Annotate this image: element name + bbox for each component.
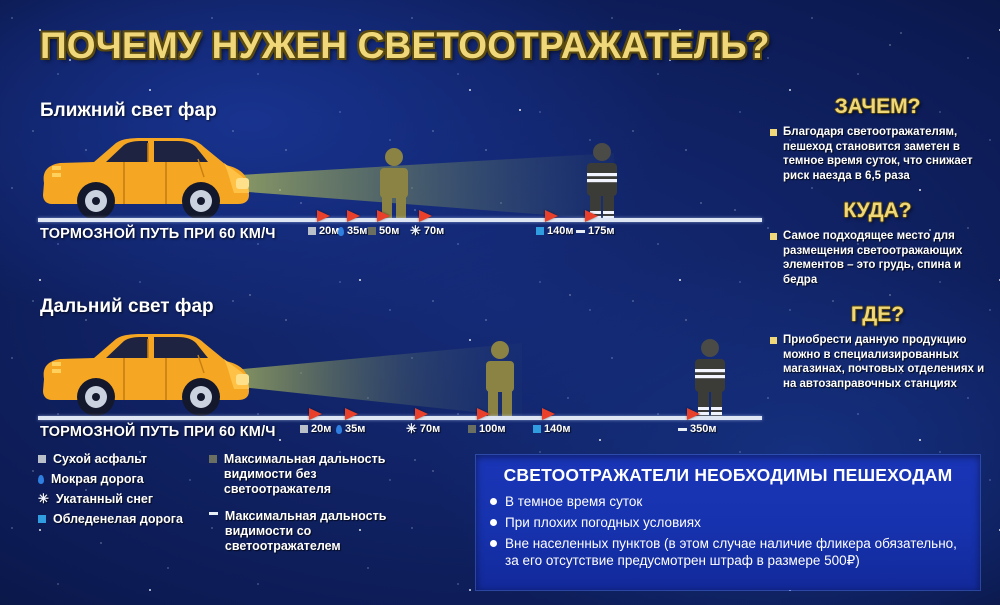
visibility-no-reflector-icon [368,227,376,235]
road-line [38,416,762,420]
legend-item: Максимальная дальность видимости без све… [209,452,391,497]
icy-road-icon [536,227,544,235]
pedestrian-with-reflectors [688,339,732,416]
distance-value: 175м [588,225,615,237]
distance-value: 350м [690,423,717,435]
headlight-beam-cone [222,143,722,220]
distance-marker-arrow [377,210,390,222]
section-item: Приобрести данную продукцию можно в спец… [770,333,985,391]
legend-item-label: Максимальная дальность видимости со свет… [225,509,391,554]
legend-item: Обледенелая дорога [38,512,183,527]
headlight-beam-cone [222,339,722,419]
rc-section-kuda: КУДА? Самое подходящее место для размеще… [770,199,985,287]
packed-snow-icon: ✳ [410,227,421,235]
car-low-beam [38,133,253,221]
brake-distance-label: ТОРМОЗНОЙ ПУТЬ ПРИ 60 КМ/Ч [40,424,276,440]
callout-list-item: В темное время суток [490,493,966,510]
scene-high-beam: Дальний свет фар [0,296,760,446]
callout-list-item: При плохих погодных условиях [490,514,966,531]
legend: Сухой асфальтМокрая дорога✳Укатанный сне… [38,452,458,566]
scene-low-beam: Ближний свет фар [0,100,760,250]
section-heading: КУДА? [770,199,985,223]
packed-snow-icon: ✳ [406,425,417,433]
distance-marker-label: 50м [368,225,399,237]
distance-value: 140м [544,423,571,435]
packed-snow-icon: ✳ [38,495,49,503]
visibility-no-reflector-icon [468,425,476,433]
rc-section-gde: ГДЕ? Приобрести данную продукцию можно в… [770,303,985,391]
wet-road-droplet-icon [338,227,344,236]
legend-surfaces: Сухой асфальтМокрая дорога✳Укатанный сне… [38,452,183,566]
distance-marker-arrow [347,210,360,222]
icy-road-icon [533,425,541,433]
distance-value: 50м [379,225,399,237]
distance-value: 70м [420,423,440,435]
distance-marker-arrow [542,408,555,420]
icy-road-icon [38,515,46,523]
distance-marker-label: 20м [300,423,331,435]
legend-item: Сухой асфальт [38,452,183,467]
distance-marker-label: 140м [536,225,574,237]
distance-value: 20м [319,225,339,237]
legend-item-label: Сухой асфальт [53,452,147,467]
callout-items: В темное время сутокПри плохих погодных … [490,493,966,569]
bullet-square-icon [770,233,777,240]
page-title: ПОЧЕМУ НУЖЕН СВЕТООТРАЖАТЕЛЬ? [40,25,770,67]
dry-asphalt-icon [308,227,316,235]
wet-road-droplet-icon [38,475,44,484]
legend-item-label: Укатанный снег [56,492,153,507]
distance-marker-label: 175м [576,225,615,237]
section-item: Благодаря светоотражателям, пешеход стан… [770,125,985,183]
bullet-square-icon [770,129,777,136]
right-column: ЗАЧЕМ? Благодаря светоотражателям, пешех… [770,95,985,407]
section-heading: ЗАЧЕМ? [770,95,985,119]
callout-item-text: Вне населенных пунктов (в этом случае на… [505,535,966,569]
distance-marker-arrow [477,408,490,420]
scene-heading: Дальний свет фар [40,296,214,318]
distance-marker-arrow [415,408,428,420]
distance-marker-arrow [345,408,358,420]
rc-section-zachem: ЗАЧЕМ? Благодаря светоотражателям, пешех… [770,95,985,183]
distance-marker-label: 35м [338,225,367,237]
scene-heading: Ближний свет фар [40,100,217,122]
distance-marker-label: 140м [533,423,571,435]
legend-item: ✳Укатанный снег [38,492,183,507]
section-heading: ГДЕ? [770,303,985,327]
distance-marker-label: 100м [468,423,506,435]
distance-value: 140м [547,225,574,237]
distance-value: 100м [479,423,506,435]
section-item: Самое подходящее место для размещения св… [770,229,985,287]
legend-item-label: Максимальная дальность видимости без све… [224,452,391,497]
distance-marker-label: 20м [308,225,339,237]
callout-item-text: В темное время суток [505,493,642,510]
visibility-with-reflector-icon [678,428,687,431]
distance-marker-label: ✳70м [410,225,444,237]
wet-road-droplet-icon [336,425,342,434]
section-text: Благодаря светоотражателям, пешеход стан… [783,125,985,183]
distance-marker-arrow [317,210,330,222]
distance-marker-label: 35м [336,423,365,435]
car-high-beam [38,329,253,417]
distance-value: 35м [347,225,367,237]
bullet-dot-icon [490,498,497,505]
infographic-canvas: ПОЧЕМУ НУЖЕН СВЕТООТРАЖАТЕЛЬ? Ближний св… [0,0,1000,605]
visibility-no-reflector-icon [209,455,217,463]
distance-value: 20м [311,423,331,435]
distance-marker-arrow [687,408,700,420]
callout-box: СВЕТООТРАЖАТЕЛИ НЕОБХОДИМЫ ПЕШЕХОДАМ В т… [476,455,980,590]
callout-list-item: Вне населенных пунктов (в этом случае на… [490,535,966,569]
section-text: Самое подходящее место для размещения св… [783,229,985,287]
brake-distance-label: ТОРМОЗНОЙ ПУТЬ ПРИ 60 КМ/Ч [40,226,276,242]
bullet-dot-icon [490,540,497,547]
bullet-square-icon [770,337,777,344]
distance-marker-label: ✳70м [406,423,440,435]
legend-visibility: Максимальная дальность видимости без све… [209,452,391,566]
visibility-with-reflector-icon [209,512,218,515]
legend-item-label: Мокрая дорога [51,472,144,487]
road-line [38,218,762,222]
callout-item-text: При плохих погодных условиях [505,514,701,531]
dry-asphalt-icon [300,425,308,433]
distance-marker-arrow [585,210,598,222]
distance-marker-label: 350м [678,423,717,435]
distance-value: 70м [424,225,444,237]
legend-item: Мокрая дорога [38,472,183,487]
bullet-dot-icon [490,519,497,526]
pedestrian-unlit-in-beam [478,341,522,416]
pedestrian-with-reflectors [580,143,624,220]
distance-marker-arrow [419,210,432,222]
legend-item-label: Обледенелая дорога [53,512,183,527]
distance-marker-arrow [545,210,558,222]
visibility-with-reflector-icon [576,230,585,233]
section-text: Приобрести данную продукцию можно в спец… [783,333,985,391]
legend-item: Максимальная дальность видимости со свет… [209,509,391,554]
distance-value: 35м [345,423,365,435]
distance-marker-arrow [309,408,322,420]
dry-asphalt-icon [38,455,46,463]
callout-title: СВЕТООТРАЖАТЕЛИ НЕОБХОДИМЫ ПЕШЕХОДАМ [490,465,966,486]
